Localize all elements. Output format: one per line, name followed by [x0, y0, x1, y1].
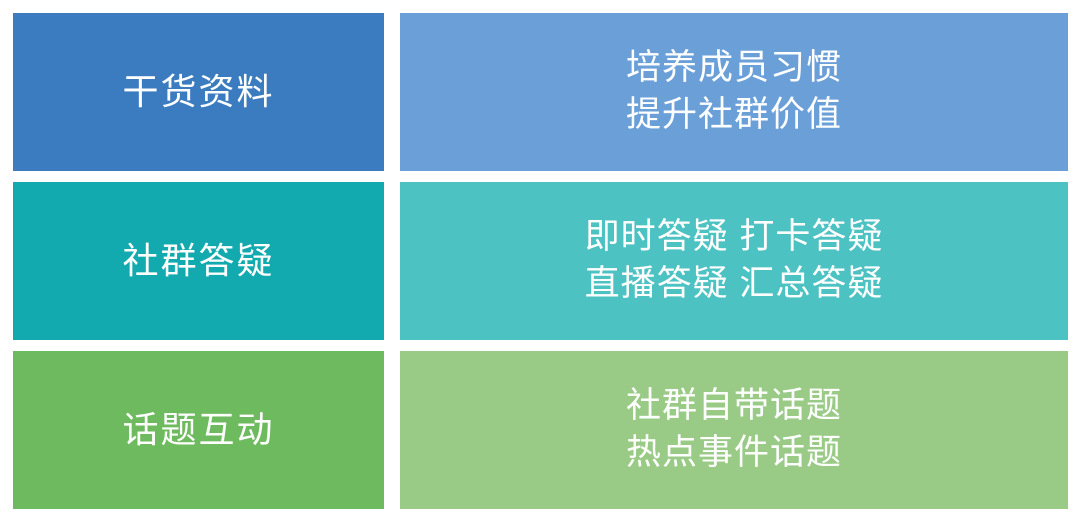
category-label: 话题互动 [122, 407, 274, 453]
detail-cell-3[interactable]: 社群自带话题 热点事件话题 [400, 351, 1068, 509]
category-cell-1[interactable]: 干货资料 [13, 13, 384, 171]
category-label: 干货资料 [122, 69, 274, 115]
matrix-row: 社群答疑 即时答疑 打卡答疑 直播答疑 汇总答疑 [13, 182, 1068, 340]
detail-line: 提升社群价值 [626, 92, 842, 139]
detail-cell-1[interactable]: 培养成员习惯 提升社群价值 [400, 13, 1068, 171]
detail-text-block: 培养成员习惯 提升社群价值 [626, 45, 842, 139]
detail-line: 直播答疑 汇总答疑 [585, 261, 884, 308]
detail-line: 社群自带话题 [626, 383, 842, 430]
content-matrix-diagram: 干货资料 培养成员习惯 提升社群价值 社群答疑 即时答疑 打卡答疑 直播答疑 汇… [0, 0, 1080, 524]
category-cell-2[interactable]: 社群答疑 [13, 182, 384, 340]
category-label: 社群答疑 [122, 238, 274, 284]
detail-text-block: 社群自带话题 热点事件话题 [626, 383, 842, 477]
detail-line: 即时答疑 打卡答疑 [585, 214, 884, 261]
detail-line: 培养成员习惯 [626, 45, 842, 92]
matrix-row: 干货资料 培养成员习惯 提升社群价值 [13, 13, 1068, 171]
detail-line: 热点事件话题 [626, 430, 842, 477]
matrix-row: 话题互动 社群自带话题 热点事件话题 [13, 351, 1068, 509]
detail-text-block: 即时答疑 打卡答疑 直播答疑 汇总答疑 [585, 214, 884, 308]
category-cell-3[interactable]: 话题互动 [13, 351, 384, 509]
detail-cell-2[interactable]: 即时答疑 打卡答疑 直播答疑 汇总答疑 [400, 182, 1068, 340]
